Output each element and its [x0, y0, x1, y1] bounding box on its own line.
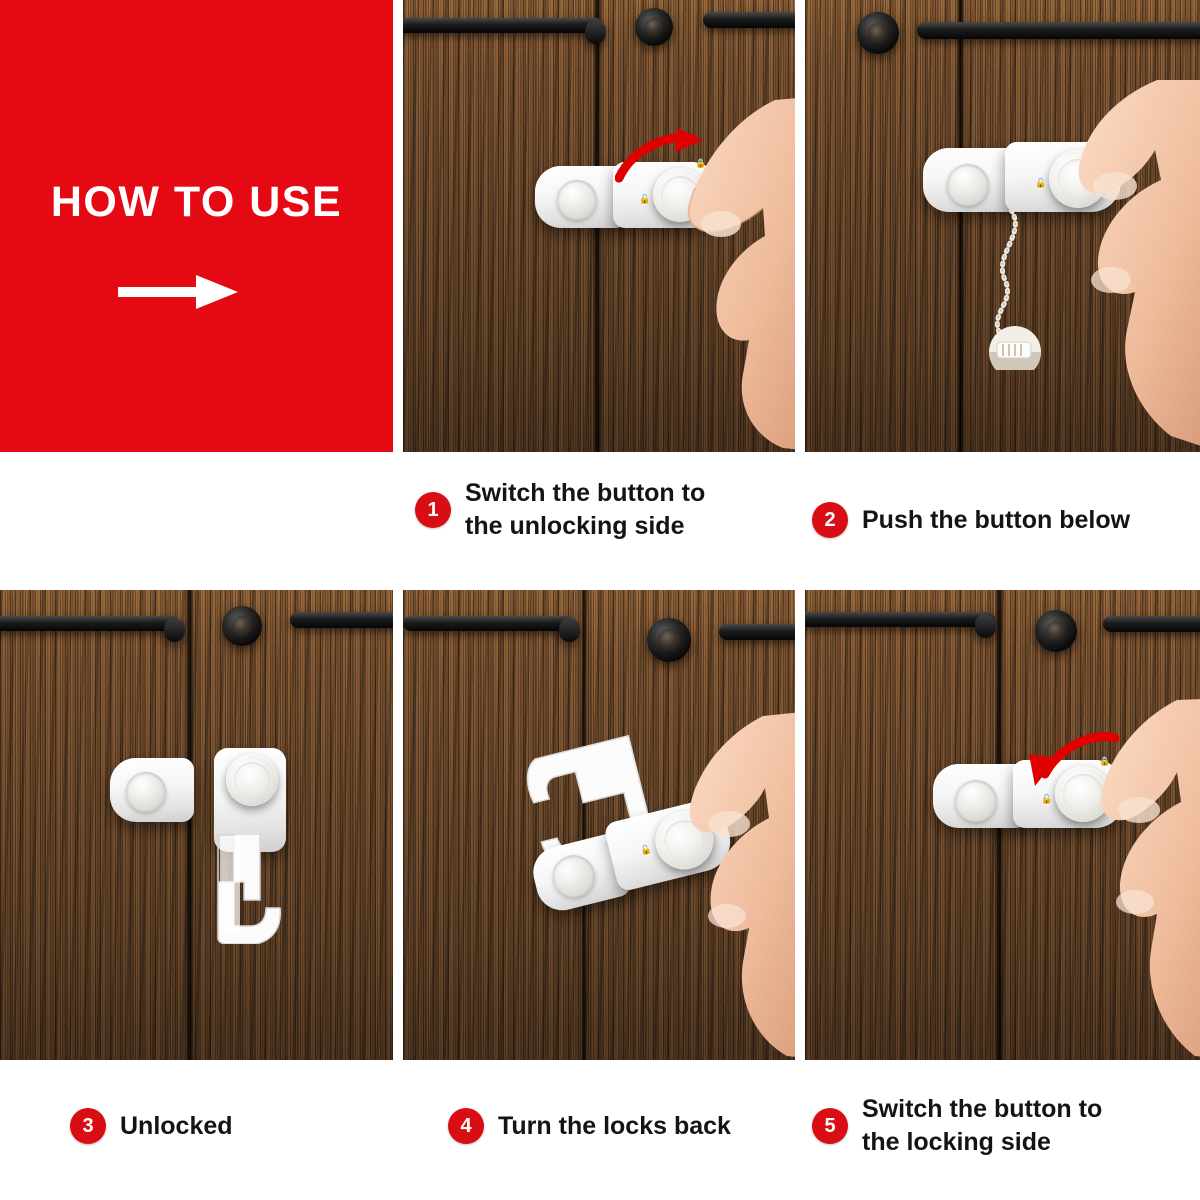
cabinet-handle-tip: [164, 618, 185, 642]
step-1-text: Switch the button to the unlocking side: [465, 477, 705, 543]
step-badge-2: 2: [812, 502, 848, 538]
step-3-photo: [0, 590, 393, 1060]
page-title: HOW TO USE: [0, 178, 393, 227]
step-3-caption: 3 Unlocked: [70, 1100, 390, 1152]
step-4-text: Turn the locks back: [498, 1110, 731, 1143]
cabinet-handle-right: [290, 612, 393, 628]
cabinet-knob: [1035, 610, 1077, 652]
unlock-icon: 🔓: [639, 196, 650, 205]
step-5-photo: 🔓 🔒: [805, 590, 1200, 1060]
lock-slider-dial[interactable]: [653, 168, 707, 222]
wood-door-background: [805, 0, 1200, 452]
cabinet-handle-tip: [975, 614, 996, 638]
lock-left-button: [557, 180, 597, 220]
lock-left-button: [955, 780, 997, 822]
cabinet-knob: [647, 618, 691, 662]
lock-icon: 🔒: [695, 160, 706, 169]
lock-hook-arm: [210, 834, 292, 944]
cabinet-safety-lock: 🔓 🔒: [923, 140, 1123, 226]
cabinet-handle: [0, 616, 180, 631]
step-5-text: Switch the button to the locking side: [862, 1093, 1102, 1159]
right-arrow-icon: [118, 272, 238, 312]
cabinet-handle-tip: [559, 618, 580, 642]
step-1-caption: 1 Switch the button to the unlocking sid…: [415, 470, 795, 550]
promo-panel: HOW TO USE: [0, 0, 393, 452]
cabinet-handle-right: [1103, 616, 1200, 632]
lock-left-pad-group: [110, 758, 190, 838]
cabinet-handle-right: [719, 624, 795, 640]
cabinet-knob: [857, 12, 899, 54]
step-badge-3: 3: [70, 1108, 106, 1144]
step-badge-5: 5: [812, 1108, 848, 1144]
lock-right-body-group: [208, 748, 328, 948]
unlock-icon: 🔓: [1041, 796, 1052, 805]
door-seam: [957, 0, 965, 452]
step-3-text: Unlocked: [120, 1110, 233, 1143]
step-2-text: Push the button below: [862, 504, 1130, 537]
cabinet-handle-right: [703, 12, 795, 28]
step-badge-1: 1: [415, 492, 451, 528]
cabinet-handle: [805, 612, 995, 627]
cabinet-handle: [403, 18, 603, 33]
lock-slider-dial[interactable]: [1055, 766, 1111, 822]
lock-left-button[interactable]: [947, 164, 989, 206]
cabinet-safety-lock: 🔓 🔒: [933, 756, 1123, 842]
step-2-photo: 🔓 🔒: [805, 0, 1200, 452]
step-5-caption: 5 Switch the button to the locking side: [812, 1086, 1200, 1166]
lock-left-button: [126, 772, 166, 812]
step-4-photo: 🔓 🔒: [403, 590, 795, 1060]
step-badge-4: 4: [448, 1108, 484, 1144]
lock-slider-dial[interactable]: [1049, 150, 1107, 208]
lock-icon: 🔒: [1093, 140, 1104, 149]
cabinet-handle-tip: [585, 20, 606, 44]
cabinet-safety-lock: 🔓 🔒: [535, 158, 715, 238]
cabinet-handle: [403, 616, 573, 631]
unlock-icon: 🔓: [1035, 180, 1046, 189]
how-to-use-infographic: HOW TO USE 🔓 🔒: [0, 0, 1200, 1200]
cabinet-knob: [635, 8, 673, 46]
cabinet-knob: [222, 606, 262, 646]
cabinet-handle: [917, 22, 1200, 39]
wood-door-background: [0, 590, 393, 1060]
lock-icon: 🔒: [1099, 758, 1110, 767]
lock-slider-dial: [226, 754, 278, 806]
step-4-caption: 4 Turn the locks back: [448, 1100, 798, 1152]
step-1-photo: 🔓 🔒: [403, 0, 795, 452]
step-2-caption: 2 Push the button below: [812, 492, 1200, 548]
